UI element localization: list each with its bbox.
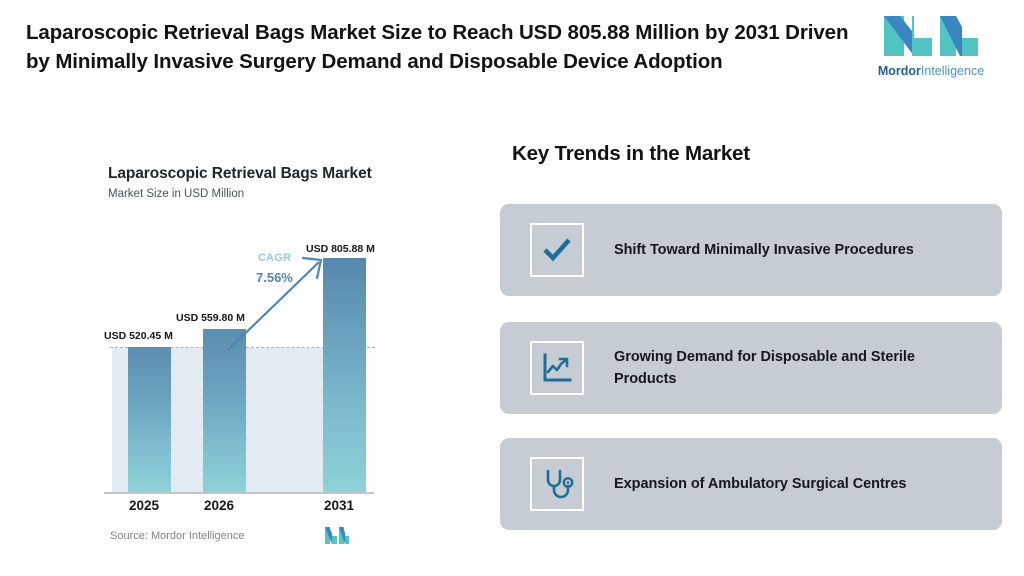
key-trends-heading: Key Trends in the Market [512, 142, 750, 166]
cagr-value: 7.56% [256, 270, 293, 285]
trend-card-ambulatory-centres[interactable]: Expansion of Ambulatory Surgical Centres [500, 438, 1002, 530]
bar-chart-plot: USD 520.45 M USD 559.80 M USD 805.88 M C… [0, 130, 470, 576]
brand-name: Mordor [878, 64, 921, 78]
x-tick-2025: 2025 [129, 498, 159, 513]
mordor-intelligence-logo-icon [880, 12, 982, 60]
stethoscope-icon [530, 457, 584, 511]
bar-value-label-2025: USD 520.45 M [104, 330, 173, 342]
brand-logo: MordorIntelligence [866, 12, 996, 84]
x-tick-2026: 2026 [204, 498, 234, 513]
chart-source: Source: Mordor Intelligence [110, 530, 245, 542]
x-tick-2031: 2031 [324, 498, 354, 513]
x-axis-line [104, 492, 374, 494]
brand-suffix: Intelligence [921, 64, 984, 78]
brand-logo-wordmark: MordorIntelligence [866, 64, 996, 78]
infographic-page: Laparoscopic Retrieval Bags Market Size … [0, 0, 1024, 576]
page-title: Laparoscopic Retrieval Bags Market Size … [26, 18, 856, 76]
chart-panel: Laparoscopic Retrieval Bags Market Marke… [0, 130, 470, 576]
trend-card-minimally-invasive[interactable]: Shift Toward Minimally Invasive Procedur… [500, 204, 1002, 296]
source-logo-icon [324, 526, 350, 545]
bar-2025 [128, 347, 171, 492]
cagr-growth-arrow-icon [225, 250, 335, 355]
trend-card-label: Expansion of Ambulatory Surgical Centres [614, 473, 906, 495]
cagr-label: CAGR [258, 252, 291, 264]
check-icon [530, 223, 584, 277]
trend-card-label: Shift Toward Minimally Invasive Procedur… [614, 239, 914, 261]
line-chart-up-icon [530, 341, 584, 395]
trend-card-disposable-sterile[interactable]: Growing Demand for Disposable and Steril… [500, 322, 1002, 414]
trend-card-label: Growing Demand for Disposable and Steril… [614, 346, 978, 390]
